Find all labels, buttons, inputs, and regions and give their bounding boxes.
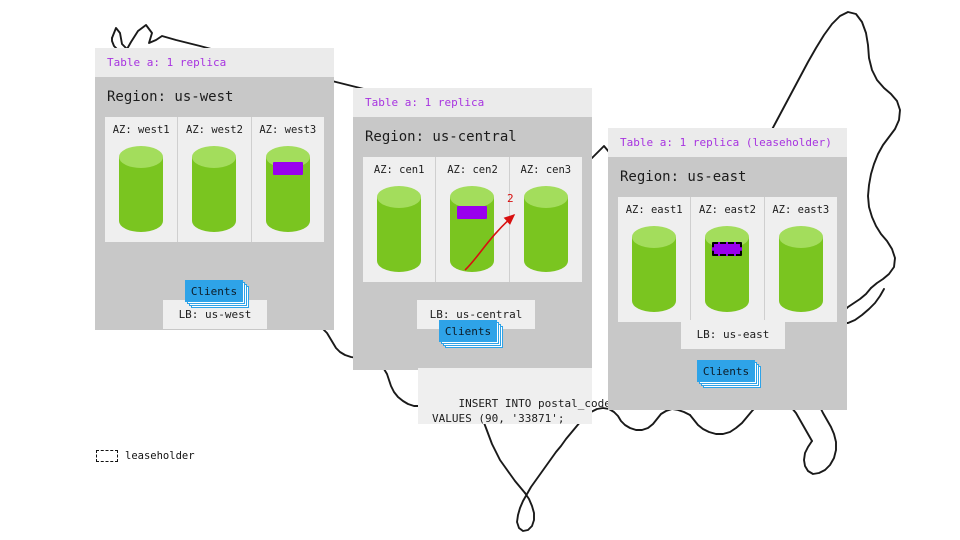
- leaseholder-swatch-icon: [96, 450, 118, 462]
- arrow-path-lb-to-cen3: [465, 215, 514, 270]
- diagram-canvas: Table a: 1 replica Region: us-west AZ: w…: [0, 0, 960, 540]
- legend-leaseholder: leaseholder: [96, 450, 195, 462]
- legend-label: leaseholder: [125, 451, 195, 462]
- arrow-step-label: 2: [507, 193, 514, 204]
